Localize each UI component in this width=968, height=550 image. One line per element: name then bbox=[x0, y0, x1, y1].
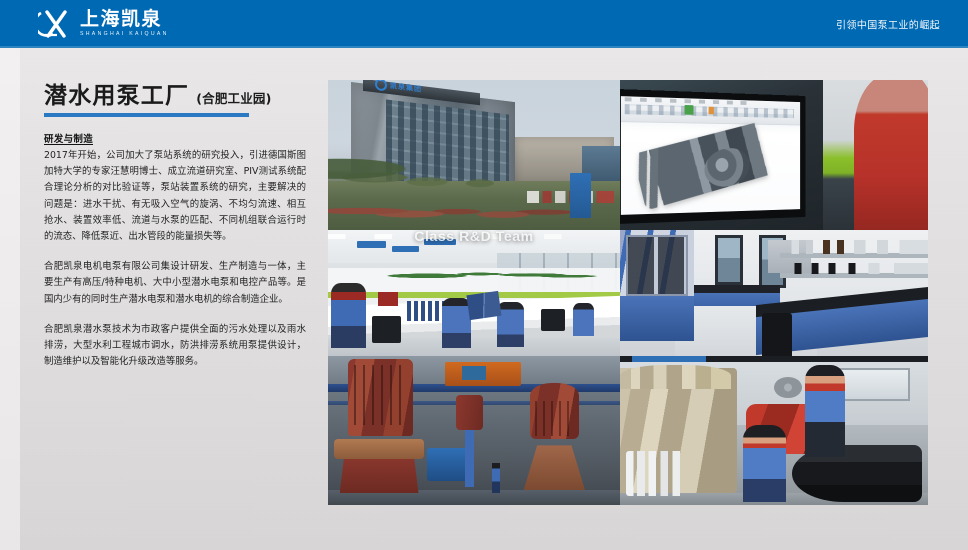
photo-materials-laboratory[interactable] bbox=[620, 230, 928, 356]
paragraph-2: 合肥凯泉电机电泵有限公司集设计研发、生产制造与一体，主要生产有高压/特种电机、大… bbox=[44, 259, 306, 308]
section-label: 研发与制造 bbox=[44, 131, 306, 145]
cad-photo bbox=[620, 80, 928, 230]
kaiquan-x-logo-icon bbox=[38, 9, 72, 39]
page-header: 上海凯泉 SHANGHAI KAIQUAN 引领中国泵工业的崛起 bbox=[0, 0, 968, 48]
photo-large-submersible-pump-assembly-hall[interactable] bbox=[328, 356, 620, 505]
photo-engine-pump-assembly-workers[interactable] bbox=[620, 356, 928, 505]
lab-photo bbox=[620, 230, 928, 356]
text-column: 潜水用泵工厂 (合肥工业园) 研发与制造 2017年开始，公司加大了泵站系统的研… bbox=[44, 84, 306, 370]
brand-name-en: SHANGHAI KAIQUAN bbox=[80, 32, 169, 37]
paragraph-1: 2017年开始，公司加大了泵站系统的研究投入，引进德国斯图加特大学的专家汪慧明博… bbox=[44, 148, 306, 245]
assembly-photo bbox=[620, 356, 928, 505]
page-title: 潜水用泵工厂 (合肥工业园) bbox=[44, 84, 306, 108]
brand-logo-text: 上海凯泉 SHANGHAI KAIQUAN bbox=[80, 10, 169, 37]
photo-collage: 凯泉集团 bbox=[328, 80, 928, 505]
building-photo: 凯泉集团 bbox=[328, 80, 620, 230]
photo-factory-office-building[interactable]: 凯泉集团 bbox=[328, 80, 620, 230]
brand-logo[interactable]: 上海凯泉 SHANGHAI KAIQUAN bbox=[38, 9, 169, 39]
page-title-sub: (合肥工业园) bbox=[196, 88, 271, 107]
slide-page: 上海凯泉 SHANGHAI KAIQUAN 引领中国泵工业的崛起 潜水用泵工厂 … bbox=[0, 0, 968, 550]
photo-cad-design-workstation[interactable] bbox=[620, 80, 928, 230]
pumps-photo bbox=[328, 356, 620, 505]
title-underline-rule bbox=[44, 113, 249, 117]
brand-name-cn: 上海凯泉 bbox=[80, 10, 169, 29]
page-title-main: 潜水用泵工厂 bbox=[44, 84, 189, 108]
photo-rnd-open-office[interactable]: Class R&D Team bbox=[328, 230, 620, 356]
office-photo bbox=[328, 230, 620, 356]
header-slogan: 引领中国泵工业的崛起 bbox=[836, 17, 940, 32]
paragraph-3: 合肥凯泉潜水泵技术为市政客户提供全面的污水处理以及雨水排涝，大型水利工程城市调水… bbox=[44, 322, 306, 371]
left-margin-strip bbox=[0, 48, 20, 550]
